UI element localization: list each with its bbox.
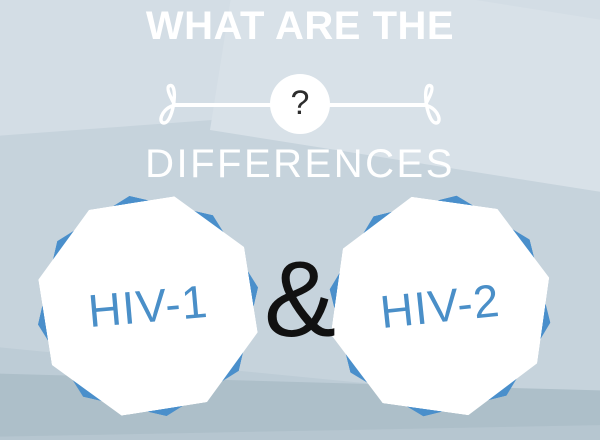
- infographic-canvas: WHAT ARE THE ? DIFFERENCES HIV-1: [0, 0, 600, 440]
- ampersand-text: &: [0, 245, 600, 353]
- badge-group: HIV-1 HIV-2: [0, 0, 600, 440]
